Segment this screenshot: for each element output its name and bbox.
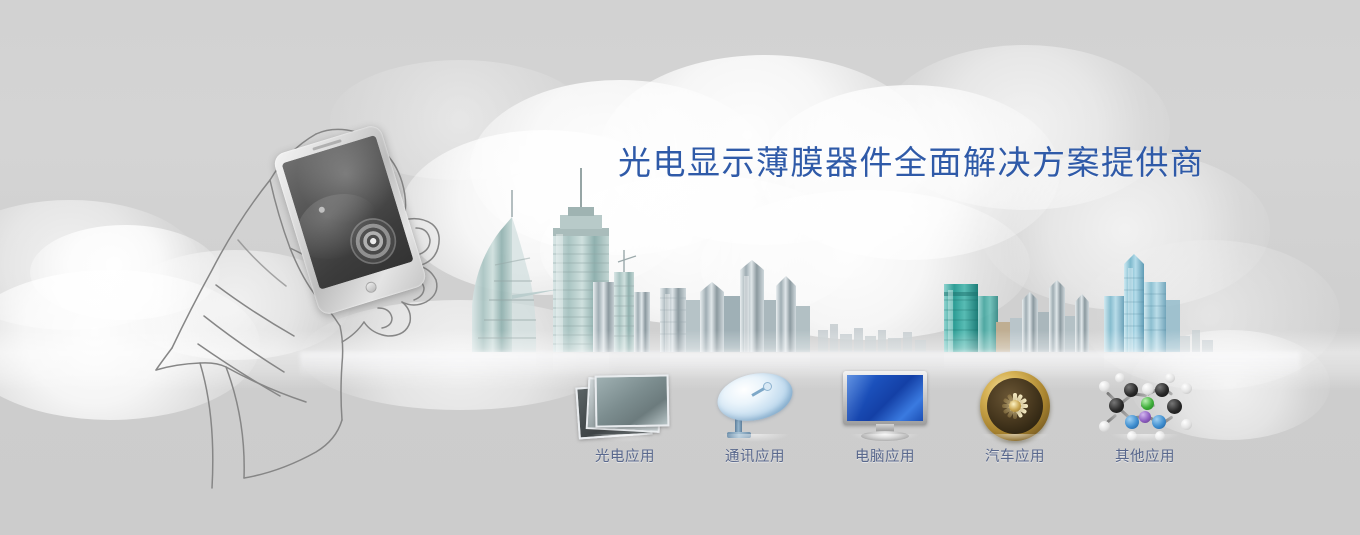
molecule-atom [1115,373,1125,383]
application-label: 电脑应用 [855,448,915,466]
application-label: 通讯应用 [725,448,785,466]
dish-reflector [713,367,797,428]
molecule-atom [1167,399,1182,414]
monitor-screen [847,375,923,421]
application-item-communication[interactable]: 通讯应用 [690,356,820,466]
molecule-atom [1152,415,1166,429]
molecule-atom [1099,381,1110,392]
molecule-atom [1139,411,1151,423]
satellite-dish-icon [705,370,805,442]
molecule-atom [1155,383,1169,397]
molecule-atom [1155,431,1165,441]
page-title: 光电显示薄膜器件全面解决方案提供商 [618,141,1205,185]
computer-monitor-icon [835,370,935,442]
application-label: 汽车应用 [985,448,1045,466]
molecule-atom [1141,397,1154,410]
monitor-case [843,371,927,425]
monitor-base [861,431,909,441]
application-list: 光电应用 通讯应用 [560,356,1210,466]
car-wheel-icon [965,370,1065,442]
molecule-atom [1124,383,1138,397]
molecule-atom [1181,383,1192,394]
application-item-other[interactable]: 其他应用 [1080,356,1210,466]
application-item-computer[interactable]: 电脑应用 [820,356,950,466]
glass-panel-layer [595,374,670,427]
molecule-atom [1125,415,1139,429]
application-item-optoelectronic[interactable]: 光电应用 [560,356,690,466]
wheel-hub [1009,400,1021,412]
wheel-rim [987,378,1043,434]
dish-foot [727,432,751,438]
dish-lnb [763,382,772,391]
glass-panel-stack-icon [575,370,675,442]
molecule-atom [1127,431,1137,441]
application-label: 其他应用 [1115,448,1175,466]
molecule-atom [1099,421,1110,432]
molecule-icon [1095,370,1195,442]
application-label: 光电应用 [595,448,655,466]
molecule-atom [1181,419,1192,430]
application-item-automotive[interactable]: 汽车应用 [950,356,1080,466]
hero-banner: 光电显示薄膜器件全面解决方案提供商 光电应用 [0,0,1360,535]
molecule-atom [1109,398,1124,413]
phone-home-button[interactable] [364,281,378,295]
molecule-atom [1165,373,1175,383]
molecule-atom [1142,383,1154,395]
